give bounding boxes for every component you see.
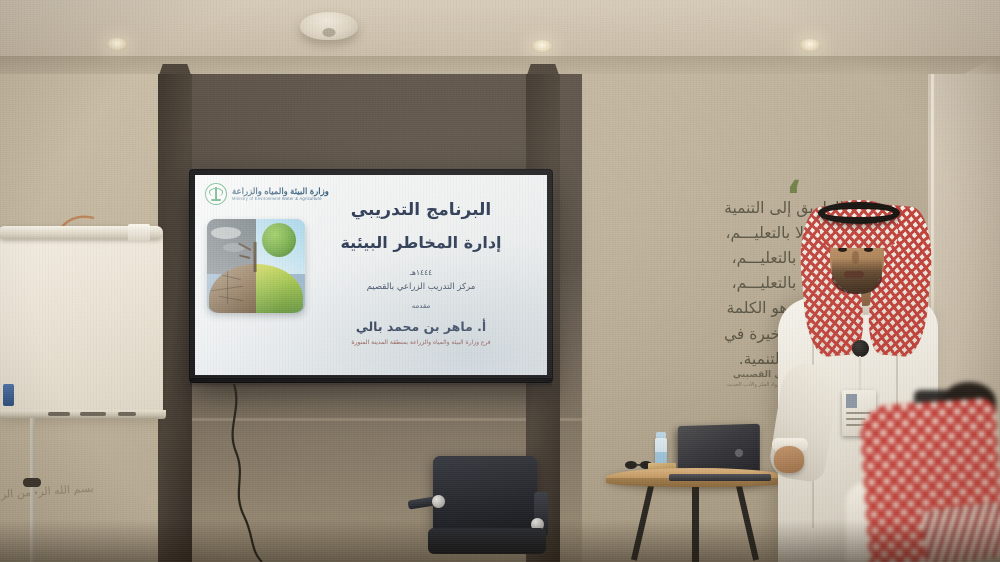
laptop-base[interactable] bbox=[669, 474, 771, 481]
slide-title-line2: إدارة المخاطر البيئية bbox=[309, 231, 533, 255]
tree-trunk bbox=[254, 242, 257, 272]
recess-floor-line bbox=[172, 418, 582, 421]
chair-seat[interactable] bbox=[428, 528, 546, 554]
easel-leg bbox=[30, 418, 35, 562]
chair-pivot bbox=[432, 495, 445, 508]
slide-presented-label: مقدمه bbox=[309, 302, 533, 310]
flipchart-clip[interactable] bbox=[128, 224, 150, 241]
tv-screen: وزارة البيئة والمياه والزراعة Ministry o… bbox=[195, 175, 547, 375]
agal-icon bbox=[818, 202, 900, 224]
nose bbox=[852, 251, 859, 264]
cloud-shape bbox=[211, 227, 241, 239]
downlight-icon bbox=[106, 38, 128, 51]
slide-title-block: البرنامج التدريبي إدارة المخاطر البيئية … bbox=[309, 199, 533, 346]
downlight-icon bbox=[799, 39, 821, 52]
ministry-logo-arabic: وزارة البيئة والمياه والزراعة bbox=[232, 187, 329, 196]
tv-drop-shadow bbox=[190, 378, 552, 388]
bottle-label bbox=[655, 452, 667, 463]
marker-pen[interactable] bbox=[118, 412, 136, 416]
slide-center-name: مركز التدريب الزراعي بالقصيم bbox=[309, 282, 533, 292]
tree-canopy bbox=[262, 223, 296, 257]
slide-year: ١٤٤٤هـ bbox=[309, 268, 533, 277]
easel-adjust-knob[interactable] bbox=[23, 478, 41, 487]
table-leg bbox=[692, 486, 699, 562]
chair-backrest[interactable] bbox=[433, 456, 537, 534]
wall-mounted-tv[interactable]: وزارة البيئة والمياه والزراعة Ministry o… bbox=[190, 170, 552, 382]
marker-pen[interactable] bbox=[80, 412, 106, 416]
saudi-emblem-icon bbox=[205, 183, 227, 205]
emblem-base bbox=[211, 199, 221, 201]
ground-dry-half bbox=[209, 264, 256, 313]
crack-line bbox=[227, 270, 228, 304]
slide-branch-line: فرع وزارة البيئة والمياه والزراعة بمنطقة… bbox=[309, 339, 533, 346]
hand bbox=[774, 446, 804, 473]
shemagh-zigzag-trim bbox=[920, 501, 1000, 562]
ground-green-half bbox=[256, 264, 303, 313]
photo-scene: ، الطريق إلى التنمية يمر أولا بالتعليـــ… bbox=[0, 0, 1000, 562]
pillar-left bbox=[158, 74, 192, 562]
lanyard-reel-icon bbox=[852, 340, 869, 357]
mouth bbox=[844, 271, 864, 278]
presentation-slide: وزارة البيئة والمياه والزراعة Ministry o… bbox=[195, 175, 547, 375]
smoke-detector-icon bbox=[300, 12, 358, 40]
slide-title-line1: البرنامج التدريبي bbox=[309, 199, 533, 222]
slide-presenter-name: أ. ماهر بن محمد بالي bbox=[309, 319, 533, 334]
climate-change-image bbox=[207, 219, 305, 313]
crack-line bbox=[219, 296, 243, 301]
flipchart-paper[interactable]: بسم الله الرحمن الرحيم bbox=[0, 232, 163, 414]
foreground-person bbox=[846, 378, 1000, 562]
blue-magnet-icon[interactable] bbox=[3, 384, 14, 406]
marker-pen[interactable] bbox=[48, 412, 70, 416]
downlight-icon bbox=[531, 40, 553, 53]
laptop-logo-icon bbox=[735, 449, 743, 457]
